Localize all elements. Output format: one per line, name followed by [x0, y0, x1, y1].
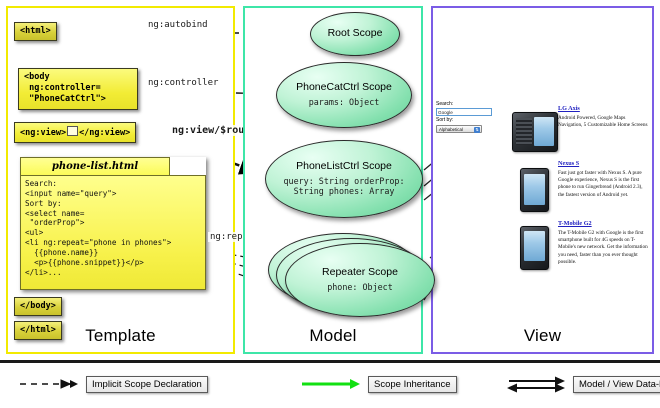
- scope-phonelistctrl-props: query: String orderProp: String phones: …: [266, 176, 422, 197]
- phone-list-item: Nexus S Fast just got faster with Nexus …: [558, 160, 650, 199]
- legend-label-scope-inheritance: Scope Inheritance: [368, 376, 457, 393]
- phone-screen-icon: [534, 117, 554, 146]
- legend-item-scope-inheritance: Scope Inheritance: [300, 375, 457, 393]
- code-tag-html-close: </html>: [14, 321, 62, 340]
- phone-snippet: Fast just got faster with Nexus S. A pur…: [558, 170, 650, 199]
- code-tag-body: <body ng:controller= "PhoneCatCtrl">: [18, 68, 138, 110]
- code-tag-ngview: <ng:view></ng:view>: [14, 122, 136, 143]
- phone-name-link[interactable]: LG Axis: [558, 105, 650, 112]
- phone-list-item: T-Mobile G2 The T-Mobile G2 with Google …: [558, 220, 650, 266]
- chevron-down-icon: ⇅: [474, 127, 480, 133]
- phone-snippet: Android Powered, Google Maps Navigation,…: [558, 115, 650, 129]
- scope-root: Root Scope: [310, 12, 400, 56]
- scope-phonecatctrl-name: PhoneCatCtrl Scope: [296, 82, 392, 94]
- double-arrow-icon: [505, 375, 567, 393]
- code-tag-body-close: </body>: [14, 297, 62, 316]
- diagram-root: Template <html> <body ng:controller= "Ph…: [0, 0, 660, 405]
- phone-keyboard-icon: [516, 118, 532, 145]
- dashed-arrow-icon: [18, 375, 80, 393]
- edge-label-autobind: ng:autobind: [146, 20, 210, 30]
- phone-thumbnail-lg-axis: [512, 112, 558, 152]
- phone-name-link[interactable]: Nexus S: [558, 160, 650, 167]
- sort-label: Sort by:: [436, 117, 498, 124]
- legend-item-data-binding: Model / View Data-binding: [505, 375, 660, 393]
- phone-thumbnail-t-mobile-g2: [520, 226, 549, 270]
- scope-phonelistctrl: PhoneListCtrl Scope query: String orderP…: [265, 140, 423, 218]
- panel-model-title: Model: [245, 326, 421, 346]
- note-title-tab: phone-list.html: [20, 157, 170, 176]
- sticky-note-phone-list: phone-list.html Search: <input name="que…: [20, 157, 206, 290]
- ngview-open-tag: <ng:view>: [20, 128, 66, 138]
- code-tag-html: <html>: [14, 22, 57, 41]
- edge-label-controller: ng:controller: [146, 78, 220, 88]
- scope-repeater: Repeater Scope phone: Object: [285, 243, 435, 317]
- legend-label-implicit-scope: Implicit Scope Declaration: [86, 376, 208, 393]
- phone-screen-icon: [524, 231, 545, 261]
- sort-select[interactable]: Alphabetical ⇅: [436, 125, 482, 133]
- scope-phonecatctrl: PhoneCatCtrl Scope params: Object: [276, 62, 412, 128]
- scope-root-name: Root Scope: [328, 28, 383, 40]
- solid-green-arrow-icon: [300, 375, 362, 393]
- view-search-controls: Search: Google Sort by: Alphabetical ⇅: [436, 101, 498, 133]
- phone-thumbnail-nexus-s: [520, 168, 549, 212]
- scope-repeater-props: phone: Object: [327, 282, 393, 293]
- sort-select-value: Alphabetical: [439, 127, 463, 132]
- note-code: Search: <input name="query"> Sort by: <s…: [20, 175, 206, 290]
- legend: Implicit Scope Declaration Scope Inherit…: [0, 360, 660, 408]
- scope-phonelistctrl-name: PhoneListCtrl Scope: [296, 161, 392, 173]
- scope-phonecatctrl-props: params: Object: [309, 97, 380, 108]
- phone-snippet: The T-Mobile G2 with Google is the first…: [558, 230, 650, 266]
- search-input[interactable]: Google: [436, 108, 492, 116]
- ngview-slot-icon: [67, 126, 78, 136]
- ngview-close-tag: </ng:view>: [79, 128, 130, 138]
- phone-name-link[interactable]: T-Mobile G2: [558, 220, 650, 227]
- legend-item-implicit-scope: Implicit Scope Declaration: [18, 375, 208, 393]
- phone-list-item: LG Axis Android Powered, Google Maps Nav…: [558, 105, 650, 129]
- scope-repeater-name: Repeater Scope: [322, 267, 398, 279]
- legend-label-data-binding: Model / View Data-binding: [573, 376, 660, 393]
- search-label: Search:: [436, 101, 498, 108]
- note-title: phone-list.html: [21, 158, 169, 176]
- phone-screen-icon: [524, 174, 545, 205]
- panel-view-title: View: [433, 326, 652, 346]
